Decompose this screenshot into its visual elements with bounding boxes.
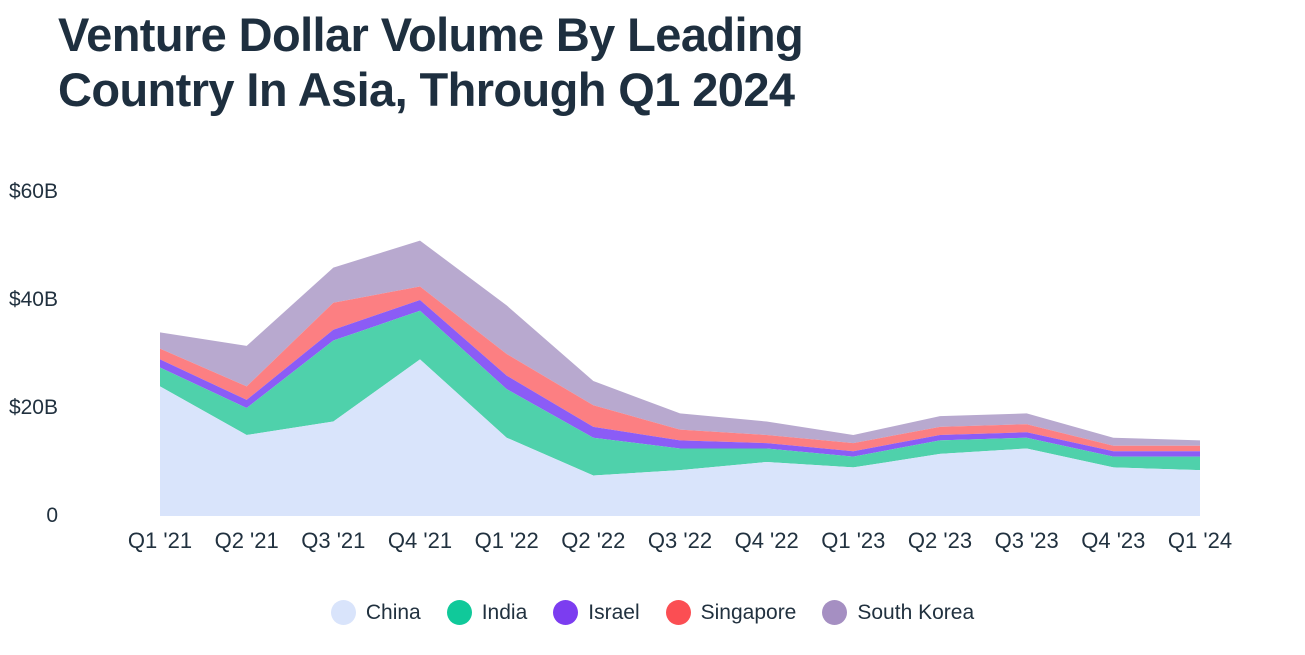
- legend-label: Singapore: [701, 601, 797, 625]
- x-axis-tick: Q1 '22: [475, 528, 539, 554]
- chart-plot-area: $60B $40B $20B 0 Q1 '21Q2 '21Q3 '21Q4 '2…: [0, 176, 1305, 576]
- chart-page: Venture Dollar Volume By Leading Country…: [0, 0, 1305, 655]
- x-axis-tick: Q2 '22: [561, 528, 625, 554]
- x-axis-tick: Q3 '22: [648, 528, 712, 554]
- x-axis-tick: Q4 '23: [1081, 528, 1145, 554]
- title-line-1: Venture Dollar Volume By Leading: [58, 8, 803, 61]
- x-axis-tick: Q1 '24: [1168, 528, 1232, 554]
- x-axis-tick: Q2 '23: [908, 528, 972, 554]
- legend-item-south-korea[interactable]: South Korea: [822, 600, 974, 625]
- stacked-area-chart: [0, 176, 1305, 576]
- x-axis-tick: Q4 '21: [388, 528, 452, 554]
- chart-legend: ChinaIndiaIsraelSingaporeSouth Korea: [0, 600, 1305, 625]
- legend-label: India: [482, 601, 528, 625]
- x-axis-tick: Q2 '21: [215, 528, 279, 554]
- y-axis-tick: $60B: [9, 180, 58, 204]
- y-axis-tick: $40B: [9, 288, 58, 312]
- y-axis-tick: 0: [46, 504, 58, 528]
- title-line-2: Country In Asia, Through Q1 2024: [58, 63, 794, 116]
- legend-label: Israel: [588, 601, 639, 625]
- y-axis-tick: $20B: [9, 396, 58, 420]
- legend-item-india[interactable]: India: [447, 600, 528, 625]
- legend-item-china[interactable]: China: [331, 600, 421, 625]
- circle-swatch-icon: [447, 600, 472, 625]
- legend-item-israel[interactable]: Israel: [553, 600, 639, 625]
- x-axis-tick: Q3 '23: [995, 528, 1059, 554]
- page-title: Venture Dollar Volume By Leading Country…: [58, 8, 1118, 117]
- legend-label: China: [366, 601, 421, 625]
- y-axis: $60B $40B $20B 0: [0, 176, 150, 576]
- x-axis-tick: Q4 '22: [735, 528, 799, 554]
- x-axis-tick: Q1 '21: [128, 528, 192, 554]
- legend-item-singapore[interactable]: Singapore: [666, 600, 797, 625]
- circle-swatch-icon: [666, 600, 691, 625]
- legend-label: South Korea: [857, 601, 974, 625]
- x-axis: Q1 '21Q2 '21Q3 '21Q4 '21Q1 '22Q2 '22Q3 '…: [0, 528, 1305, 568]
- circle-swatch-icon: [331, 600, 356, 625]
- x-axis-tick: Q1 '23: [821, 528, 885, 554]
- x-axis-tick: Q3 '21: [301, 528, 365, 554]
- circle-swatch-icon: [553, 600, 578, 625]
- circle-swatch-icon: [822, 600, 847, 625]
- area-layers: [160, 241, 1200, 516]
